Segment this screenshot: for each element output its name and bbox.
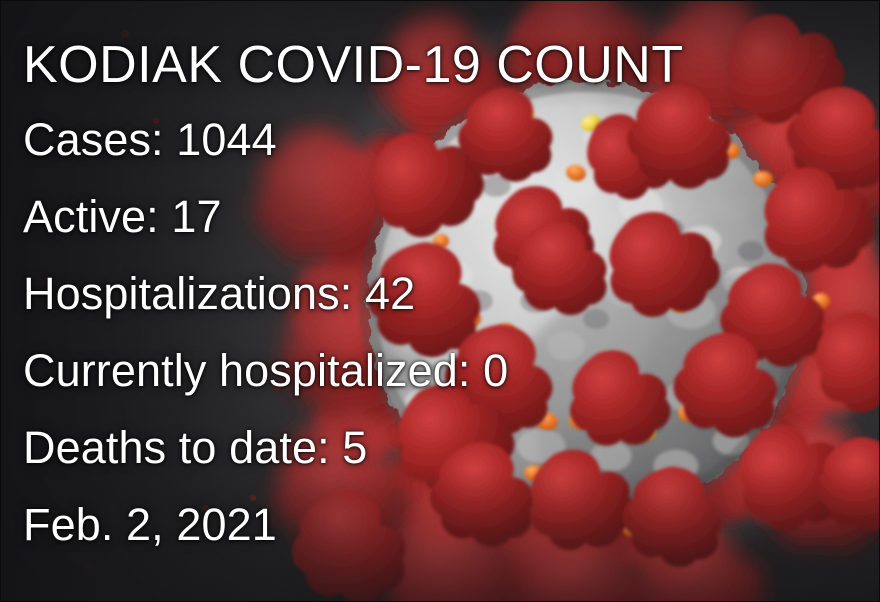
stat-line-hospitalizations: Hospitalizations: 42: [23, 255, 843, 332]
stat-line-currently-hospitalized: Currently hospitalized: 0: [23, 332, 843, 409]
stats-text-block: KODIAK COVID-19 COUNT Cases: 1044 Active…: [23, 29, 843, 563]
page-title: KODIAK COVID-19 COUNT: [23, 29, 843, 101]
stat-line-active: Active: 17: [23, 178, 843, 255]
covid-count-graphic: KODIAK COVID-19 COUNT Cases: 1044 Active…: [0, 0, 880, 602]
report-date: Feb. 2, 2021: [23, 486, 843, 563]
stat-line-deaths-to-date: Deaths to date: 5: [23, 409, 843, 486]
stat-line-cases: Cases: 1044: [23, 101, 843, 178]
